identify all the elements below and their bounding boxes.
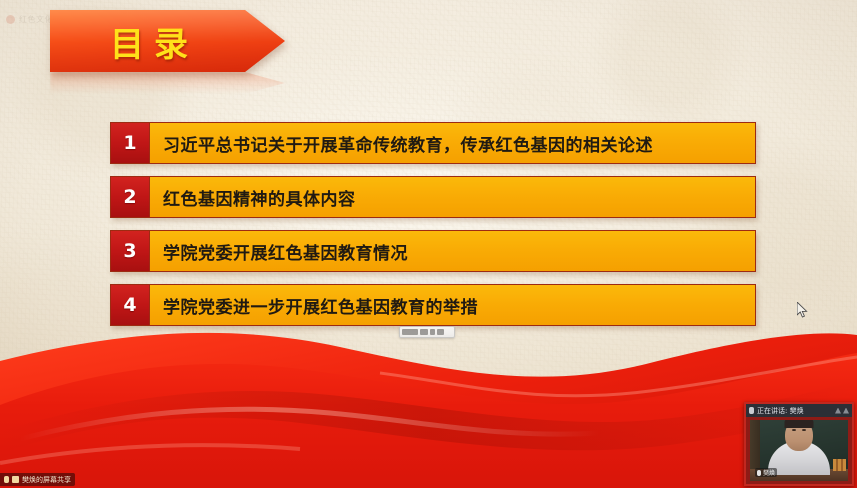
video-participant-panel[interactable]: 正在讲话: 樊焕 樊焕 bbox=[744, 402, 854, 486]
agenda-list: 1 习近平总书记关于开展革命传统教育，传承红色基因的相关论述 2 红色基因精神的… bbox=[110, 122, 756, 338]
books-on-desk bbox=[833, 459, 846, 471]
participant-eye-left bbox=[792, 429, 796, 431]
collapse-chevron-icon[interactable] bbox=[835, 408, 841, 414]
participant-eye-right bbox=[802, 429, 806, 431]
user-icon bbox=[12, 476, 19, 483]
agenda-number-badge: 1 bbox=[111, 123, 150, 163]
screen-share-indicator[interactable]: 樊焕的屏幕共享 bbox=[0, 473, 75, 486]
agenda-item-2[interactable]: 2 红色基因精神的具体内容 bbox=[110, 176, 756, 218]
participant-hair bbox=[785, 420, 814, 428]
screen-share-label: 樊焕的屏幕共享 bbox=[22, 475, 71, 485]
microphone-icon bbox=[749, 407, 754, 414]
video-panel-controls[interactable] bbox=[835, 408, 849, 414]
agenda-item-3[interactable]: 3 学院党委开展红色基因教育情况 bbox=[110, 230, 756, 272]
watermark-seal-icon bbox=[6, 15, 15, 24]
participant-name-badge: 樊焕 bbox=[755, 468, 777, 477]
agenda-item-label: 学院党委开展红色基因教育情况 bbox=[150, 231, 755, 271]
agenda-item-1[interactable]: 1 习近平总书记关于开展革命传统教育，传承红色基因的相关论述 bbox=[110, 122, 756, 164]
presentation-screen-share: 红色文化 目录 1 习近平总书记关于开展革命传统教育，传承红色基因的相关论述 2… bbox=[0, 0, 857, 488]
page-title: 目录 bbox=[50, 10, 285, 72]
share-screen-icon bbox=[4, 476, 9, 483]
title-banner-reflection bbox=[50, 72, 285, 94]
video-feed: 樊焕 bbox=[750, 420, 848, 481]
participant-name-label: 樊焕 bbox=[763, 468, 775, 477]
agenda-item-label: 红色基因精神的具体内容 bbox=[150, 177, 755, 217]
watermark: 红色文化 bbox=[6, 14, 53, 25]
video-panel-header: 正在讲话: 樊焕 bbox=[746, 404, 852, 417]
watermark-label: 红色文化 bbox=[19, 14, 53, 25]
speaking-status-label: 正在讲话: 樊焕 bbox=[757, 406, 832, 416]
expand-chevron-icon[interactable] bbox=[843, 408, 849, 414]
agenda-number-badge: 3 bbox=[111, 231, 150, 271]
red-silk-wave-decoration bbox=[0, 313, 857, 488]
agenda-item-label: 习近平总书记关于开展革命传统教育，传承红色基因的相关论述 bbox=[150, 123, 755, 163]
title-banner: 目录 bbox=[50, 10, 285, 72]
agenda-number-badge: 2 bbox=[111, 177, 150, 217]
red-silk-wave-svg bbox=[0, 313, 857, 488]
microphone-small-icon bbox=[757, 470, 761, 476]
